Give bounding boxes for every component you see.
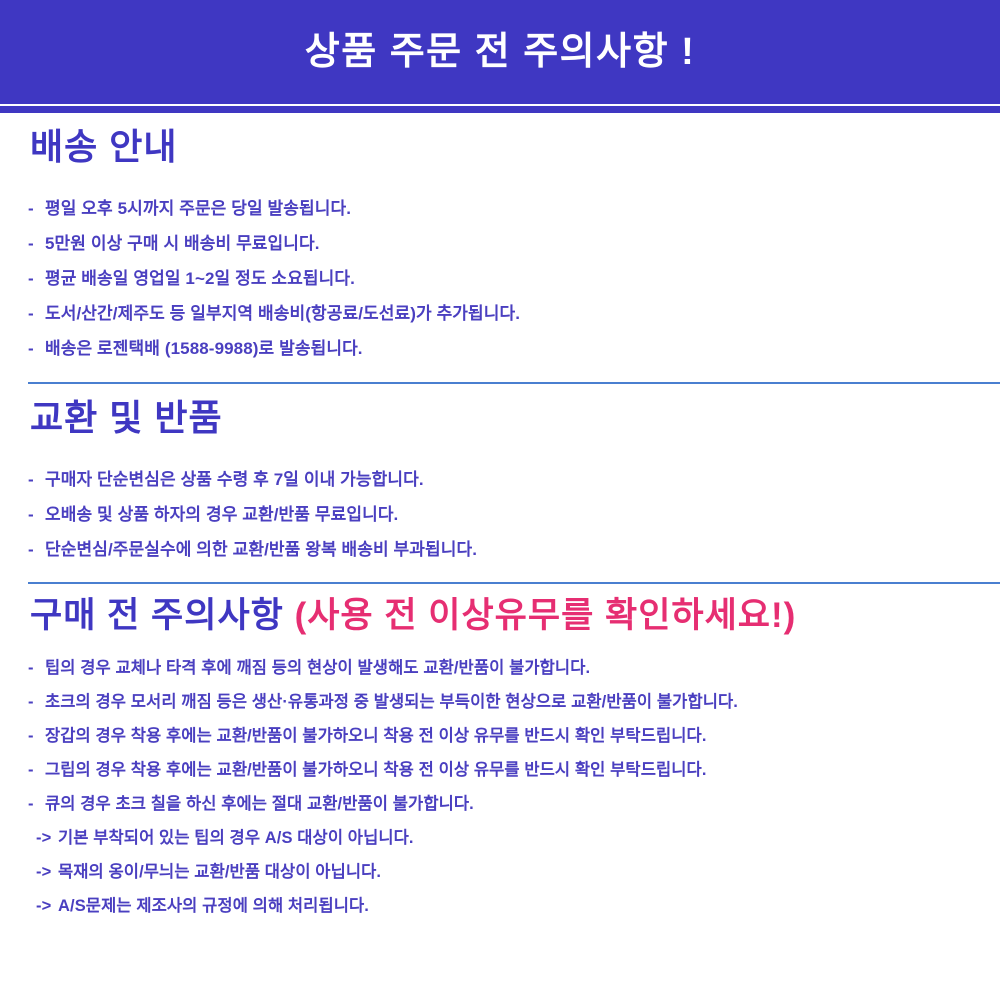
notice-page: 상품 주문 전 주의사항 ! 배송 안내 -평일 오후 5시까지 주문은 당일 … [0, 0, 1000, 1000]
section-exchange: 교환 및 반품 -구매자 단순변심은 상품 수령 후 7일 이내 가능합니다. … [0, 384, 1000, 584]
list-item: ->기본 부착되어 있는 팁의 경우 A/S 대상이 아닙니다. [28, 821, 1000, 855]
list-item: -배송은 로젠택배 (1588-9988)로 발송됩니다. [28, 331, 1000, 366]
list-item: -오배송 및 상품 하자의 경우 교환/반품 무료입니다. [28, 497, 1000, 532]
bullet-mark: - [28, 191, 45, 226]
section-caution: 구매 전 주의사항 (사용 전 이상유무를 확인하세요!) -팁의 경우 교체나… [0, 584, 1000, 923]
list-item: -구매자 단순변심은 상품 수령 후 7일 이내 가능합니다. [28, 462, 1000, 497]
list-item-text: 5만원 이상 구매 시 배송비 무료입니다. [45, 234, 320, 253]
bullet-mark: - [28, 753, 45, 787]
list-item-text: 팁의 경우 교체나 타격 후에 깨짐 등의 현상이 발생해도 교환/반품이 불가… [45, 659, 590, 677]
section-caution-heading-main: 구매 전 주의사항 [30, 596, 295, 635]
bullet-mark: - [28, 532, 45, 567]
bullet-mark: - [28, 719, 45, 753]
list-item: -큐의 경우 초크 칠을 하신 후에는 절대 교환/반품이 불가합니다. [28, 787, 1000, 821]
list-item: -평일 오후 5시까지 주문은 당일 발송됩니다. [28, 191, 1000, 226]
bullet-mark: - [28, 331, 45, 366]
section-caution-list: -팁의 경우 교체나 타격 후에 깨짐 등의 현상이 발생해도 교환/반품이 불… [28, 651, 1000, 923]
list-item-text: 평균 배송일 영업일 1~2일 정도 소요됩니다. [45, 269, 355, 288]
list-item: ->A/S문제는 제조사의 규정에 의해 처리됩니다. [28, 889, 1000, 923]
list-item-text: 장갑의 경우 착용 후에는 교환/반품이 불가하오니 착용 전 이상 유무를 반… [45, 727, 707, 745]
section-shipping: 배송 안내 -평일 오후 5시까지 주문은 당일 발송됩니다. -5만원 이상 … [0, 113, 1000, 384]
list-item-text: 초크의 경우 모서리 깨짐 등은 생산·유통과정 중 발생되는 부득이한 현상으… [45, 693, 738, 711]
page-title: 상품 주문 전 주의사항 ! [305, 33, 696, 71]
section-caution-heading: 구매 전 주의사항 (사용 전 이상유무를 확인하세요!) [30, 598, 1000, 633]
arrow-mark: -> [36, 821, 58, 855]
list-item: -5만원 이상 구매 시 배송비 무료입니다. [28, 226, 1000, 261]
list-item: ->목재의 옹이/무늬는 교환/반품 대상이 아닙니다. [28, 855, 1000, 889]
banner-bottom-rule [0, 104, 1000, 113]
list-item: -팁의 경우 교체나 타격 후에 깨짐 등의 현상이 발생해도 교환/반품이 불… [28, 651, 1000, 685]
bullet-mark: - [28, 787, 45, 821]
list-item-text: A/S문제는 제조사의 규정에 의해 처리됩니다. [58, 897, 369, 915]
section-caution-heading-accent: (사용 전 이상유무를 확인하세요!) [295, 596, 797, 635]
bullet-mark: - [28, 462, 45, 497]
section-shipping-heading: 배송 안내 [30, 129, 1000, 165]
list-item-text: 큐의 경우 초크 칠을 하신 후에는 절대 교환/반품이 불가합니다. [45, 795, 474, 813]
section-exchange-list: -구매자 단순변심은 상품 수령 후 7일 이내 가능합니다. -오배송 및 상… [28, 462, 1000, 567]
bullet-mark: - [28, 226, 45, 261]
list-item-text: 목재의 옹이/무늬는 교환/반품 대상이 아닙니다. [58, 863, 381, 881]
arrow-mark: -> [36, 889, 58, 923]
page-banner: 상품 주문 전 주의사항 ! [0, 0, 1000, 104]
bullet-mark: - [28, 497, 45, 532]
list-item: -초크의 경우 모서리 깨짐 등은 생산·유통과정 중 발생되는 부득이한 현상… [28, 685, 1000, 719]
list-item-text: 배송은 로젠택배 (1588-9988)로 발송됩니다. [45, 339, 363, 358]
list-item: -단순변심/주문실수에 의한 교환/반품 왕복 배송비 부과됩니다. [28, 532, 1000, 567]
list-item: -그립의 경우 착용 후에는 교환/반품이 불가하오니 착용 전 이상 유무를 … [28, 753, 1000, 787]
bullet-mark: - [28, 261, 45, 296]
list-item-text: 오배송 및 상품 하자의 경우 교환/반품 무료입니다. [45, 505, 398, 524]
bullet-mark: - [28, 296, 45, 331]
bullet-mark: - [28, 651, 45, 685]
list-item: -도서/산간/제주도 등 일부지역 배송비(항공료/도선료)가 추가됩니다. [28, 296, 1000, 331]
arrow-mark: -> [36, 855, 58, 889]
list-item-text: 기본 부착되어 있는 팁의 경우 A/S 대상이 아닙니다. [58, 829, 414, 847]
list-item-text: 단순변심/주문실수에 의한 교환/반품 왕복 배송비 부과됩니다. [45, 540, 477, 559]
list-item-text: 구매자 단순변심은 상품 수령 후 7일 이내 가능합니다. [45, 470, 424, 489]
list-item-text: 평일 오후 5시까지 주문은 당일 발송됩니다. [45, 199, 351, 218]
list-item: -평균 배송일 영업일 1~2일 정도 소요됩니다. [28, 261, 1000, 296]
section-shipping-list: -평일 오후 5시까지 주문은 당일 발송됩니다. -5만원 이상 구매 시 배… [28, 191, 1000, 366]
list-item-text: 그립의 경우 착용 후에는 교환/반품이 불가하오니 착용 전 이상 유무를 반… [45, 761, 707, 779]
list-item-text: 도서/산간/제주도 등 일부지역 배송비(항공료/도선료)가 추가됩니다. [45, 304, 520, 323]
list-item: -장갑의 경우 착용 후에는 교환/반품이 불가하오니 착용 전 이상 유무를 … [28, 719, 1000, 753]
bullet-mark: - [28, 685, 45, 719]
section-exchange-heading: 교환 및 반품 [30, 400, 1000, 436]
